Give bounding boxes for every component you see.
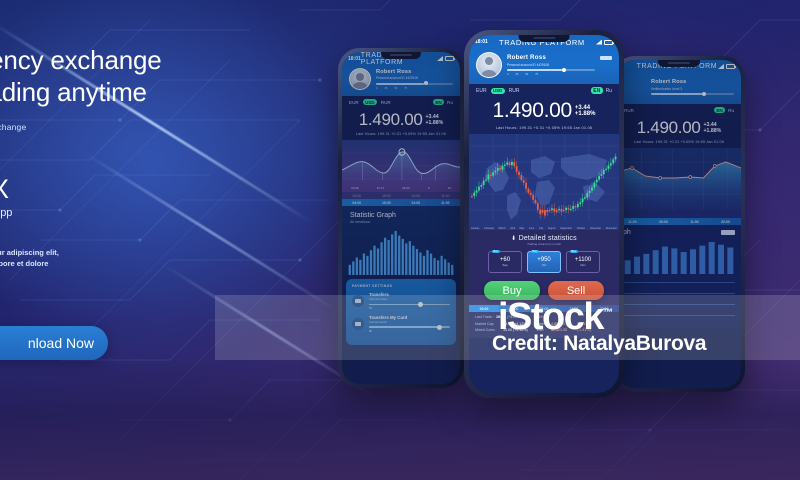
axis-muted-0: 04:00 [353,194,362,198]
hero-body-line-1: , consectetur adipiscing elit, [0,247,268,258]
statistic-graph-section: Statistic Graph All mentions: [342,206,460,275]
hero-body-line-2: didunt ut labore et dolore [0,258,268,269]
language-selector-right[interactable]: EN Ru [714,107,734,113]
lang-ru-label-center[interactable]: Ru [606,88,612,94]
detailed-statistics-title: ⬇ Detailed statistics [469,230,619,242]
signal-icon-right [718,64,724,69]
credit-watermark: Credit: NatalyaBurova [492,332,706,356]
right-toggle-pill[interactable] [721,230,735,235]
candle-month-labels: January February March April May June Ju… [469,227,619,230]
avatar-center [476,52,502,78]
stat-value-0: +60 [500,257,510,263]
stat-tag-2: Buy [570,250,578,254]
point-label-2: 16:42 [402,186,410,190]
tick-2: 50 [394,87,397,90]
axis-muted-1: 15:00 [382,194,391,198]
axis-active-2[interactable]: 01:00 [412,201,421,205]
signal-icon-center [596,40,602,45]
price-delta: +3.44 +1.88% [426,114,444,126]
right-section-title: ph [623,229,631,236]
price-block: 1.490.00 +3.44 +1.88% Last Hours: 199.31… [342,108,460,140]
tick-c-1: 25 [515,73,518,76]
price-value-right: 1.490.00 [637,118,701,138]
download-arrow-icon: ⬇ [511,236,516,242]
currency-rur[interactable]: RUR [381,100,391,105]
month-2: March [499,227,506,230]
language-selector[interactable]: EN Ru [433,99,453,105]
month-11: December [606,227,617,230]
stat-month-1: Oct [542,263,546,267]
profile-progress-slider[interactable] [376,83,453,85]
price-delta-right: +3.44 +1.88% [704,122,722,134]
price-delta-center: +3.44 +1.88% [575,105,596,117]
user-meta-1: Personal account ID 4429108 [376,76,453,80]
price-block-right: 1.490.00 +3.44 +1.88% Last Hours: 199.31… [617,116,741,148]
lang-en-pill[interactable]: EN [433,99,444,105]
headline-line-1: urrency exchange [0,45,161,75]
app-header-center: 18:01 TRADING PLATFORM Robert Ross Perso… [469,35,619,84]
axis-right-2[interactable]: 11:00 [690,220,698,224]
profile-progress-slider-center[interactable] [507,69,595,71]
poster-canvas: urrency exchange , trading anytime ons f… [0,0,800,480]
user-profile-right[interactable]: Robert Ross Verified trader Level 3 [617,73,741,104]
axis-active-0[interactable]: 04:00 [352,201,361,205]
user-meta-right: Verified trader Level 3 [651,87,734,91]
user-name-right: Robert Ross [651,79,734,85]
menu-icon-center[interactable] [600,56,612,60]
tick-3: 75 [404,87,407,90]
area-chart-left[interactable]: 12:40 11:71 16:42 0 14 [342,140,460,192]
last-hours-center: Last Hours: 199.31 +0.31 +0.05% 19:55 Ja… [469,125,619,130]
user-profile-center[interactable]: Robert Ross Personal account ID 4429108 … [469,49,619,84]
profile-ticks-center: 0 25 50 75 [507,73,595,76]
price-delta-pct-center: +1.88% [575,111,596,117]
bar-chart-left[interactable] [342,227,460,275]
trademark-icon: ™ [603,307,613,318]
month-4: May [520,227,525,230]
currency-selector-right[interactable]: RUR EN Ru [617,104,741,116]
status-icons-right [718,64,735,69]
payment-settings-heading: PAYMENT SETTINGS [352,284,450,288]
lang-en-pill-center[interactable]: EN [591,87,603,94]
phone-notch-center [519,35,570,42]
stat-card-nov[interactable]: Buy +1100 Nov [566,251,600,273]
stat-tag-0: Buy [492,250,500,254]
month-7: August [548,227,555,230]
download-now-button[interactable]: nload Now [0,326,108,360]
user-name: Robert Ross [376,69,453,75]
stat-month-0: Sep [503,263,508,267]
avatar [349,68,371,90]
status-icons [437,56,454,61]
price-value-center: 1.490.00 [493,99,572,123]
user-name-center: Robert Ross [507,54,595,61]
month-3: April [510,227,515,230]
stat-value-2: +1100 [575,257,591,263]
uiux-title: I/UX [0,174,268,205]
detailed-statistics-label: Detailed statistics [519,235,577,242]
currency-eur-center[interactable]: EUR [476,88,487,94]
price-delta-pct: +1.88% [426,120,444,126]
stat-value-1: +950 [537,257,551,263]
stat-cards: Buy +60 Sep Buy +950 Oct Buy +1100 Nov [469,246,619,277]
point-label-3: 0 [428,186,430,190]
detailed-statistics-section: ⬇ Detailed statistics Trading volume by … [469,230,619,305]
stat-card-oct[interactable]: Buy +950 Oct [527,251,561,273]
area-point-labels: 12:40 11:71 16:42 0 14 [342,186,460,190]
axis-times-active[interactable]: 04:00 15:00 01:00 11:00 [342,199,460,206]
point-label-0: 12:40 [351,186,359,190]
axis-times-muted: 04:00 15:00 01:00 11:00 [342,192,460,199]
axis-muted-2: 01:00 [412,194,421,198]
battery-icon [445,56,454,61]
month-0: January [471,227,480,230]
currency-usd-center[interactable]: USD [491,88,505,94]
currency-rur-center[interactable]: RUR [509,88,520,94]
month-6: July [539,227,543,230]
axis-muted-3: 11:00 [441,194,449,198]
axis-times-right[interactable]: 11:00 00:00 11:00 22:00 [617,218,741,225]
month-10: November [590,227,601,230]
currency-rur-right[interactable]: RUR [624,108,634,113]
status-time: 18:01 [348,56,361,62]
hero-copy: urrency exchange , trading anytime ons f… [0,44,268,269]
tick-c-2: 50 [525,73,528,76]
hero-subline: ons for exchange [0,122,268,132]
month-8: September [560,227,572,230]
axis-muted-wrap: 04:00 15:00 01:00 11:00 [342,192,460,199]
lang-ru-label[interactable]: Ru [447,100,453,105]
axis-active-3[interactable]: 11:00 [441,201,449,205]
profile-progress-slider-right[interactable] [651,93,734,95]
profile-progress-ticks: 0 25 50 75 [376,87,453,90]
price-value: 1.490.00 [359,110,423,130]
battery-icon-right [726,64,735,69]
bar-chart-right[interactable] [617,238,741,274]
price-delta-pct-right: +1.88% [704,128,722,134]
area-chart-right[interactable] [617,148,741,218]
lang-en-pill-right[interactable]: EN [714,107,725,113]
phone-notch [381,52,421,59]
tick-0: 0 [376,87,377,90]
stat-card-sep[interactable]: Buy +60 Sep [488,251,522,273]
last-hours-text: Last Hours: 199.31 +0.31 +0.05% 19:55 Ja… [342,132,460,136]
point-label-1: 11:71 [377,186,384,190]
lang-ru-label-right[interactable]: Ru [728,108,734,113]
divider-1 [623,282,735,283]
status-time-center: 18:01 [475,39,488,45]
tick-1: 25 [384,87,387,90]
candlestick-chart[interactable]: January February March April May June Ju… [469,134,619,230]
language-selector-center[interactable]: EN Ru [591,87,612,94]
currency-selector[interactable]: EUR USD RUR EN Ru [342,96,460,108]
last-hours-text-right: Last Hours: 199.31 +0.31 +0.05% 19:55 Ja… [617,140,741,144]
axis-right-1[interactable]: 00:00 [659,220,668,224]
month-1: February [484,227,494,230]
currency-usd-active[interactable]: USD [363,99,377,105]
hero-body-text: , consectetur adipiscing elit, didunt ut… [0,247,268,269]
currency-selector-center[interactable]: EUR USD RUR EN Ru [469,84,619,97]
uiux-subtitle: Mobile App [0,207,268,219]
month-9: October [577,227,586,230]
battery-icon-center [604,40,613,45]
point-label-4: 14 [448,186,451,190]
tick-c-3: 75 [535,73,538,76]
tick-c-0: 0 [507,73,508,76]
stat-month-2: Nov [581,263,586,267]
statistic-graph-title: Statistic Graph [342,206,460,219]
user-meta-center: Personal account ID 4429108 [507,63,595,67]
user-profile[interactable]: Robert Ross Personal account ID 4429108 … [342,65,460,96]
month-5: June [529,227,534,230]
headline-line-2: , trading anytime [0,76,268,108]
currency-eur[interactable]: EUR [349,100,359,105]
price-block-center: 1.490.00 +3.44 +1.88% Last Hours: 199.31… [469,97,619,134]
status-icons-center [596,40,613,45]
signal-icon [437,56,443,61]
axis-right-0[interactable]: 11:00 [628,220,636,224]
page-title: urrency exchange , trading anytime [0,44,268,108]
statistic-graph-sub: All mentions: [342,219,460,227]
phone-notch-right [658,60,700,67]
axis-active-1[interactable]: 15:00 [382,201,391,205]
stat-tag-1: Buy [531,250,539,254]
axis-right-3[interactable]: 22:00 [721,220,730,224]
